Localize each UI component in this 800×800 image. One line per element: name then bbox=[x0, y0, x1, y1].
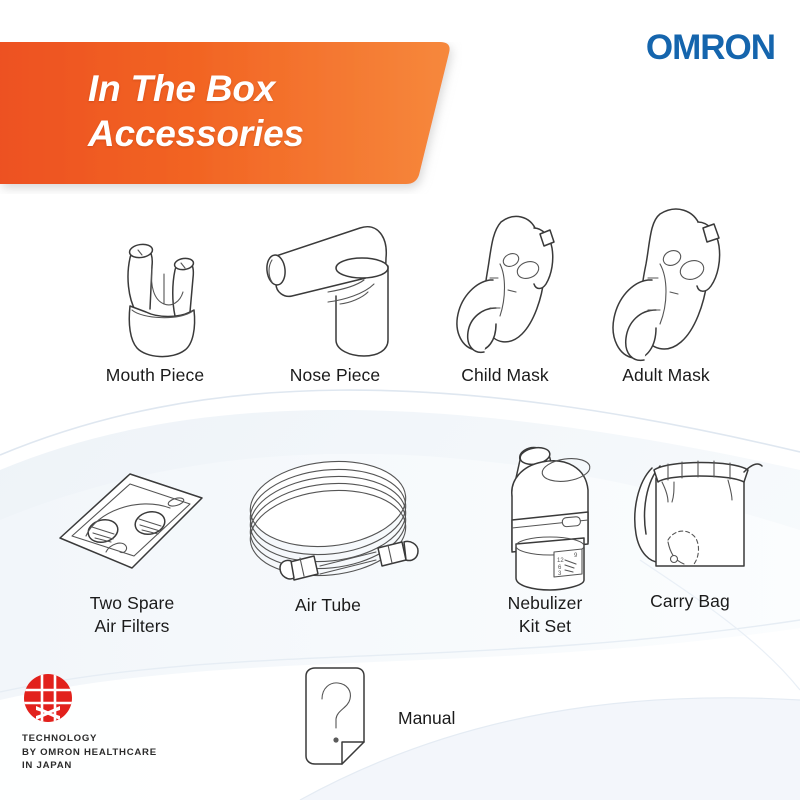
omron-brand-logo: OMRON bbox=[646, 28, 775, 68]
product-child-mask: Child Mask bbox=[430, 198, 580, 387]
banner-title-line2: Accessories bbox=[88, 113, 304, 154]
product-label: Air Tube bbox=[228, 594, 428, 617]
footer-text: TECHNOLOGY BY OMRON HEALTHCARE IN JAPAN bbox=[22, 732, 232, 773]
in-the-box-accessories-page: In The Box Accessories OMRON Mouth Piece bbox=[0, 0, 800, 800]
manual-document-icon bbox=[296, 666, 374, 770]
product-label: Nose Piece bbox=[252, 364, 418, 387]
tube-connector-right bbox=[378, 541, 418, 566]
product-nebulizer-kit: 12 9 6 3 Nebulizer Kit Set bbox=[466, 434, 624, 638]
product-label: Two Spare Air Filters bbox=[48, 592, 216, 638]
footer-technology-badge: TECHNOLOGY BY OMRON HEALTHCARE IN JAPAN bbox=[22, 672, 232, 773]
product-label: Mouth Piece bbox=[80, 364, 230, 387]
air-filters-icon bbox=[48, 452, 216, 592]
adult-mask-icon bbox=[586, 192, 746, 364]
nose-piece-icon bbox=[252, 214, 418, 364]
tube-connector-left bbox=[280, 556, 318, 580]
product-carry-bag: Carry Bag bbox=[612, 438, 768, 613]
japan-technology-mark bbox=[22, 672, 74, 724]
svg-text:12: 12 bbox=[557, 558, 564, 564]
product-label: Adult Mask bbox=[586, 364, 746, 387]
product-label: Child Mask bbox=[430, 364, 580, 387]
child-mask-icon bbox=[430, 198, 580, 364]
banner-title: In The Box Accessories bbox=[88, 66, 304, 156]
product-label: Nebulizer Kit Set bbox=[466, 592, 624, 638]
mouth-piece-icon bbox=[80, 214, 230, 364]
carry-bag-icon bbox=[612, 438, 768, 590]
header-banner: In The Box Accessories bbox=[0, 42, 462, 182]
product-adult-mask: Adult Mask bbox=[586, 192, 746, 387]
product-mouth-piece: Mouth Piece bbox=[80, 214, 230, 387]
product-label: Carry Bag bbox=[612, 590, 768, 613]
product-label: Manual bbox=[398, 708, 455, 729]
product-air-tube: Air Tube bbox=[228, 448, 428, 617]
nebulizer-kit-icon: 12 9 6 3 bbox=[466, 434, 624, 592]
product-air-filters: Two Spare Air Filters bbox=[48, 452, 216, 638]
air-tube-icon bbox=[228, 448, 428, 594]
nebulizer-scale-label: 12 9 6 3 bbox=[554, 549, 582, 577]
product-manual: Manual bbox=[296, 666, 455, 770]
banner-title-line1: In The Box bbox=[88, 68, 275, 109]
product-nose-piece: Nose Piece bbox=[252, 214, 418, 387]
